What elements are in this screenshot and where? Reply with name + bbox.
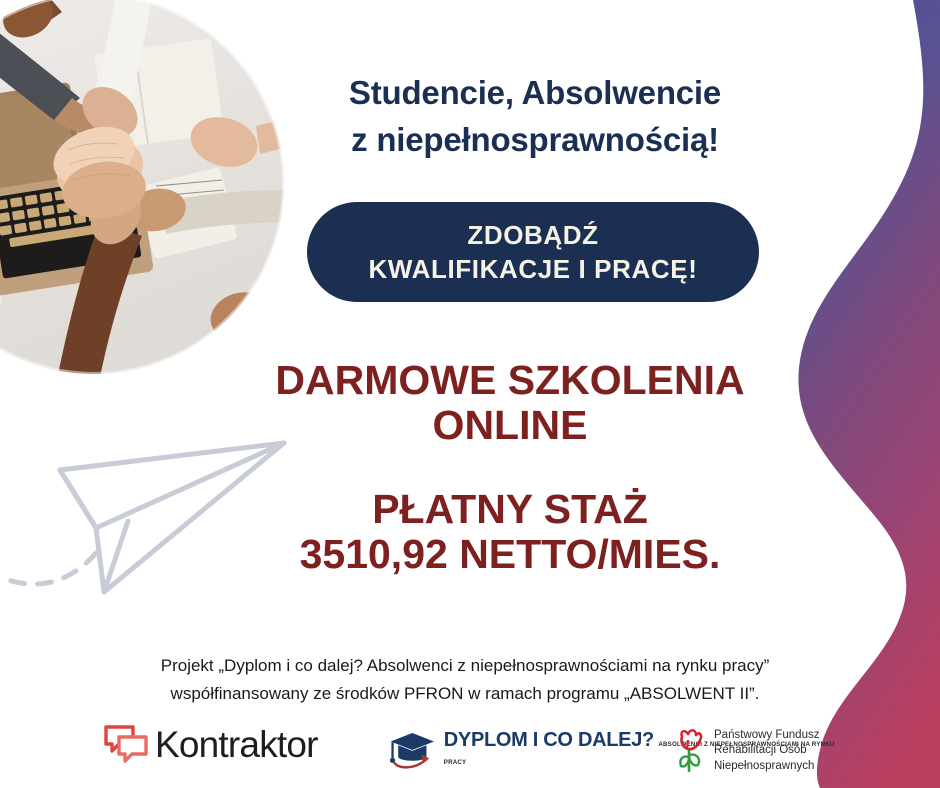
headline-line-1: Studencie, Absolwencie [275,70,795,117]
graduation-cap-icon [385,726,438,772]
pfron-text: Państwowy Fundusz Rehabilitacji Osób Nie… [714,728,819,774]
logo-pfron[interactable]: Państwowy Fundusz Rehabilitacji Osób Nie… [675,728,819,774]
poster-headline: Studencie, Absolwencie z niepełnosprawno… [275,70,795,164]
cta-line-1: ZDOBĄDŹ [467,218,598,252]
offer-training: DARMOWE SZKOLENIA ONLINE [200,358,820,448]
team-hands-photo [0,0,284,374]
cta-line-2: KWALIFIKACJE I PRACĘ! [369,252,698,286]
pfron-line-3: Niepełnosprawnych [714,759,819,774]
cta-button[interactable]: ZDOBĄDŹ KWALIFIKACJE I PRACĘ! [307,202,759,302]
funding-line-1: Projekt „Dyplom i co dalej? Absolwenci z… [70,652,860,680]
offer-internship: PŁATNY STAŻ 3510,92 NETTO/MIES. [190,487,830,577]
logo-row: Kontraktor DYPLOM I CO DALEJ? ABSOLWENCI… [95,722,835,784]
tulip-icon [675,728,707,774]
pfron-line-1: Państwowy Fundusz [714,728,819,743]
promo-poster: Studencie, Absolwencie z niepełnosprawno… [0,0,940,788]
funding-line-2: współfinansowany ze środków PFRON w rama… [70,680,860,708]
kontraktor-wordmark: Kontraktor [155,724,318,766]
offer-training-line-2: ONLINE [200,403,820,448]
headline-line-2: z niepełnosprawnością! [275,117,795,164]
pfron-line-2: Rehabilitacji Osób [714,743,819,758]
speech-bubbles-icon [103,724,149,766]
funding-statement: Projekt „Dyplom i co dalej? Absolwenci z… [70,652,860,707]
dyplom-title: DYPLOM I CO DALEJ? [444,729,654,751]
offer-training-line-1: DARMOWE SZKOLENIA [200,358,820,403]
offer-internship-amount: 3510,92 NETTO/MIES. [190,532,830,577]
offer-internship-line-1: PŁATNY STAŻ [190,487,830,532]
logo-kontraktor[interactable]: Kontraktor [103,724,318,766]
